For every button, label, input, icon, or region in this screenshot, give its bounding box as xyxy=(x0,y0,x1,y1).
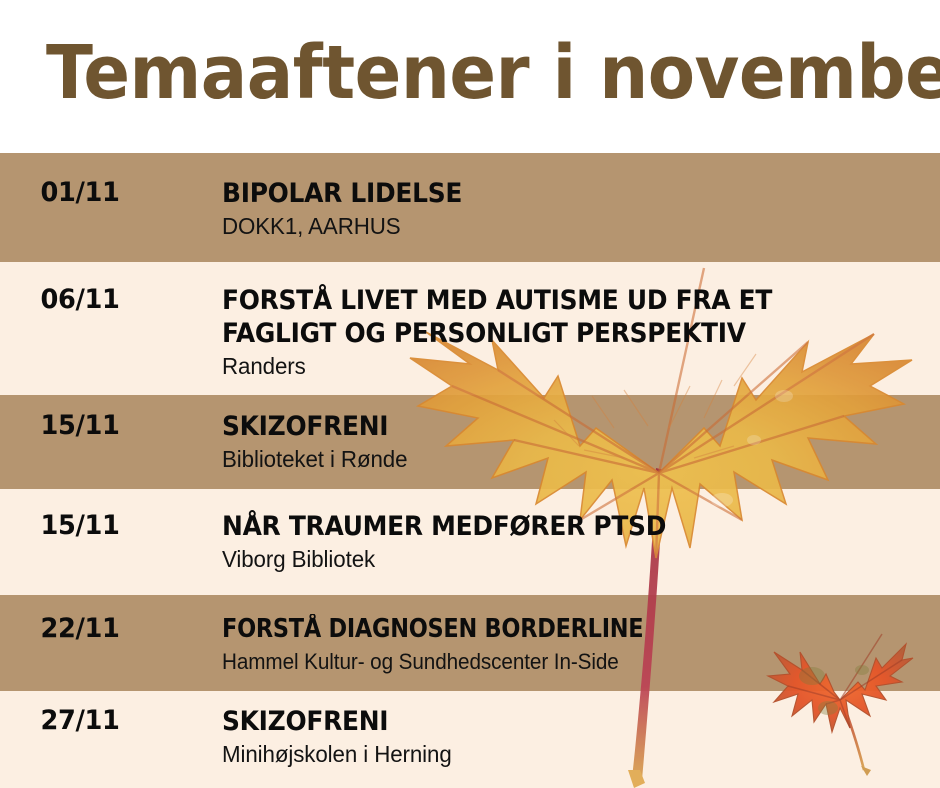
poster-header: Temaaftener i november xyxy=(0,0,940,153)
event-details: FORSTÅ LIVET MED AUTISME UD FRA ET FAGLI… xyxy=(160,284,940,381)
event-details: SKIZOFRENI Biblioteket i Rønde xyxy=(160,410,940,474)
event-date: 01/11 xyxy=(4,177,156,209)
event-details: SKIZOFRENI Minihøjskolen i Herning xyxy=(160,705,940,769)
event-title: BIPOLAR LIDELSE xyxy=(222,177,897,210)
event-details: NÅR TRAUMER MEDFØRER PTSD Viborg Bibliot… xyxy=(160,510,940,574)
event-date: 15/11 xyxy=(4,410,156,442)
event-row: 27/11 SKIZOFRENI Minihøjskolen i Herning xyxy=(0,691,940,788)
event-title: FORSTÅ DIAGNOSEN BORDERLINE xyxy=(222,613,854,646)
event-venue: DOKK1, AARHUS xyxy=(222,211,918,241)
event-venue: Viborg Bibliotek xyxy=(222,544,918,574)
event-row: 06/11 FORSTÅ LIVET MED AUTISME UD FRA ET… xyxy=(0,262,940,417)
event-title: FORSTÅ LIVET MED AUTISME UD FRA ET FAGLI… xyxy=(222,284,897,350)
event-details: FORSTÅ DIAGNOSEN BORDERLINE Hammel Kultu… xyxy=(160,613,940,677)
event-title: SKIZOFRENI xyxy=(222,410,897,443)
event-date: 15/11 xyxy=(4,510,156,542)
poster-canvas: 01/11 BIPOLAR LIDELSE DOKK1, AARHUS 06/1… xyxy=(0,0,940,788)
event-date: 27/11 xyxy=(4,705,156,737)
event-venue: Randers xyxy=(222,351,918,381)
event-row: 15/11 SKIZOFRENI Biblioteket i Rønde xyxy=(0,395,940,504)
event-venue: Hammel Kultur- og Sundhedscenter In-Side xyxy=(222,647,883,677)
event-title: NÅR TRAUMER MEDFØRER PTSD xyxy=(222,510,897,543)
page-title: Temaaftener i november xyxy=(46,30,940,116)
event-date: 22/11 xyxy=(4,613,156,645)
event-venue: Minihøjskolen i Herning xyxy=(222,739,918,769)
event-venue: Biblioteket i Rønde xyxy=(222,444,918,474)
event-date: 06/11 xyxy=(4,284,156,316)
event-title: SKIZOFRENI xyxy=(222,705,897,738)
event-details: BIPOLAR LIDELSE DOKK1, AARHUS xyxy=(160,177,940,241)
